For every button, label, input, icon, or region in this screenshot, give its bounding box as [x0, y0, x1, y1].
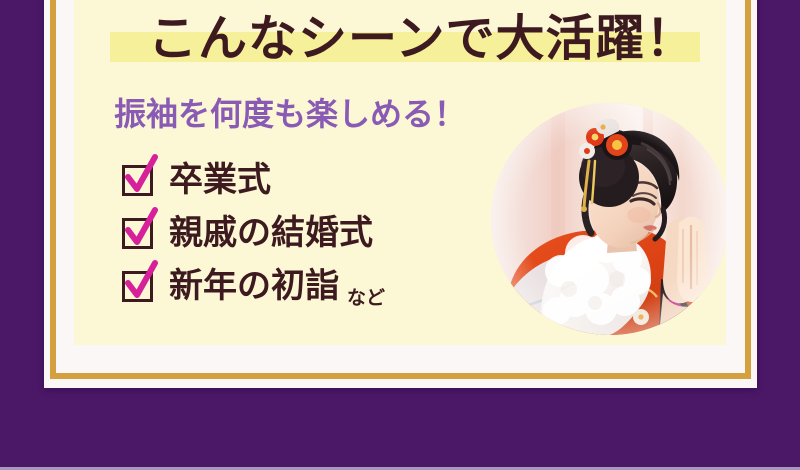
list-item-label: 親戚の結婚式 — [169, 216, 373, 250]
page-title: こんなシーンで大活躍！ — [148, 14, 726, 63]
list-item: 新年の初詣 など — [122, 260, 542, 312]
cream-content-panel: こんなシーンで大活躍！ 振袖を何度も楽しめる！ 卒業式 — [74, 0, 726, 345]
subtitle: 振袖を何度も楽しめる！ — [114, 98, 466, 130]
list-item-label: 卒業式 — [169, 163, 271, 197]
list-item-label: 新年の初詣 — [169, 269, 339, 303]
model-photo — [491, 103, 726, 335]
checkbox-checked-icon — [122, 165, 153, 196]
checkbox-checked-icon — [122, 271, 153, 302]
occasion-checklist: 卒業式 親戚の結婚式 新年の初詣 など — [122, 154, 542, 313]
list-item: 卒業式 — [122, 154, 542, 206]
model-photo-image — [491, 103, 726, 335]
list-item: 親戚の結婚式 — [122, 207, 542, 259]
checkbox-checked-icon — [122, 218, 153, 249]
banner-stage: こんなシーンで大活躍！ 振袖を何度も楽しめる！ 卒業式 — [0, 0, 800, 470]
headline-wrap: こんなシーンで大活躍！ — [110, 8, 710, 70]
list-item-suffix: など — [347, 289, 385, 312]
